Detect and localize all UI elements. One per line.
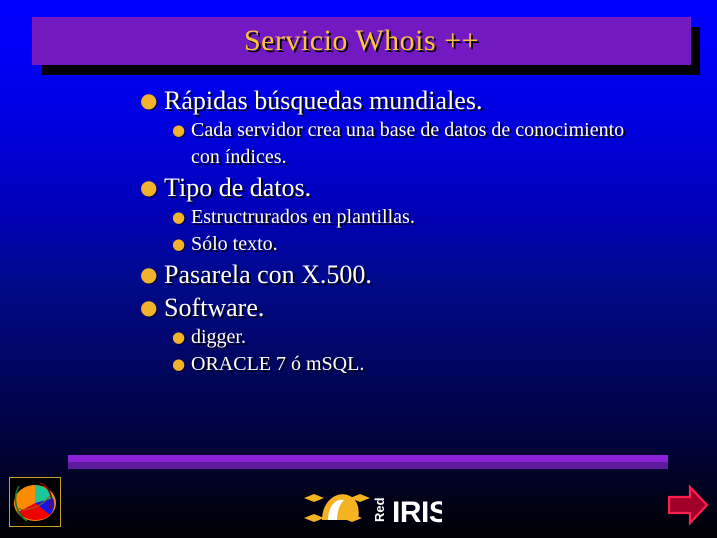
bullet-text: digger.: [191, 324, 641, 351]
bullet-item: ● Sólo texto.: [0, 231, 717, 258]
bullet-text: Sólo texto.: [191, 231, 641, 258]
slide-title: Servicio Whois ++: [32, 17, 691, 65]
title-banner: Servicio Whois ++: [32, 17, 691, 65]
bullet-text: Software.: [164, 291, 717, 324]
rediris-logo-svg: Red IRIS: [292, 484, 442, 530]
bullet-item: ● Estructrurados en plantillas.: [0, 204, 717, 231]
svg-text:Red: Red: [372, 497, 387, 522]
arrow-right-svg: [666, 484, 710, 526]
bullet-text: ORACLE 7 ó mSQL.: [191, 351, 641, 378]
arrow-right-icon[interactable]: [666, 484, 710, 526]
bullet-text: Estructrurados en plantillas.: [191, 204, 641, 231]
bullet-item: ● Tipo de datos.: [0, 171, 717, 204]
svg-text:IRIS: IRIS: [392, 496, 442, 529]
bullet-dot-icon: ●: [172, 204, 191, 231]
bullet-dot-icon: ●: [172, 117, 191, 144]
rediris-logo-icon: Red IRIS: [292, 484, 442, 530]
bullet-item: ● Cada servidor crea una base de datos d…: [0, 117, 717, 171]
bullet-item: ● Software.: [0, 291, 717, 324]
presentation-slide: Servicio Whois ++ ● Rápidas búsquedas mu…: [0, 0, 717, 538]
bullet-text: Pasarela con X.500.: [164, 258, 717, 291]
footer-divider-dark: [68, 462, 668, 469]
bullet-item: ● ORACLE 7 ó mSQL.: [0, 351, 717, 378]
bullet-item: ● Rápidas búsquedas mundiales.: [0, 84, 717, 117]
bullet-dot-icon: ●: [172, 324, 191, 351]
bullet-dot-icon: ●: [140, 171, 164, 204]
bullet-text: Cada servidor crea una base de datos de …: [191, 117, 641, 171]
pie-chart-logo-icon[interactable]: [9, 477, 61, 527]
pie-chart-logo-svg: [10, 478, 60, 526]
bullet-text: Tipo de datos.: [164, 171, 717, 204]
bullet-dot-icon: ●: [140, 84, 164, 117]
bullet-item: ● Pasarela con X.500.: [0, 258, 717, 291]
bullet-dot-icon: ●: [140, 291, 164, 324]
footer-divider-light: [68, 455, 668, 462]
bullet-text: Rápidas búsquedas mundiales.: [164, 84, 717, 117]
bullet-dot-icon: ●: [172, 351, 191, 378]
bullet-dot-icon: ●: [140, 258, 164, 291]
bullet-dot-icon: ●: [172, 231, 191, 258]
bullet-item: ● digger.: [0, 324, 717, 351]
bullet-list: ● Rápidas búsquedas mundiales. ● Cada se…: [0, 84, 717, 378]
